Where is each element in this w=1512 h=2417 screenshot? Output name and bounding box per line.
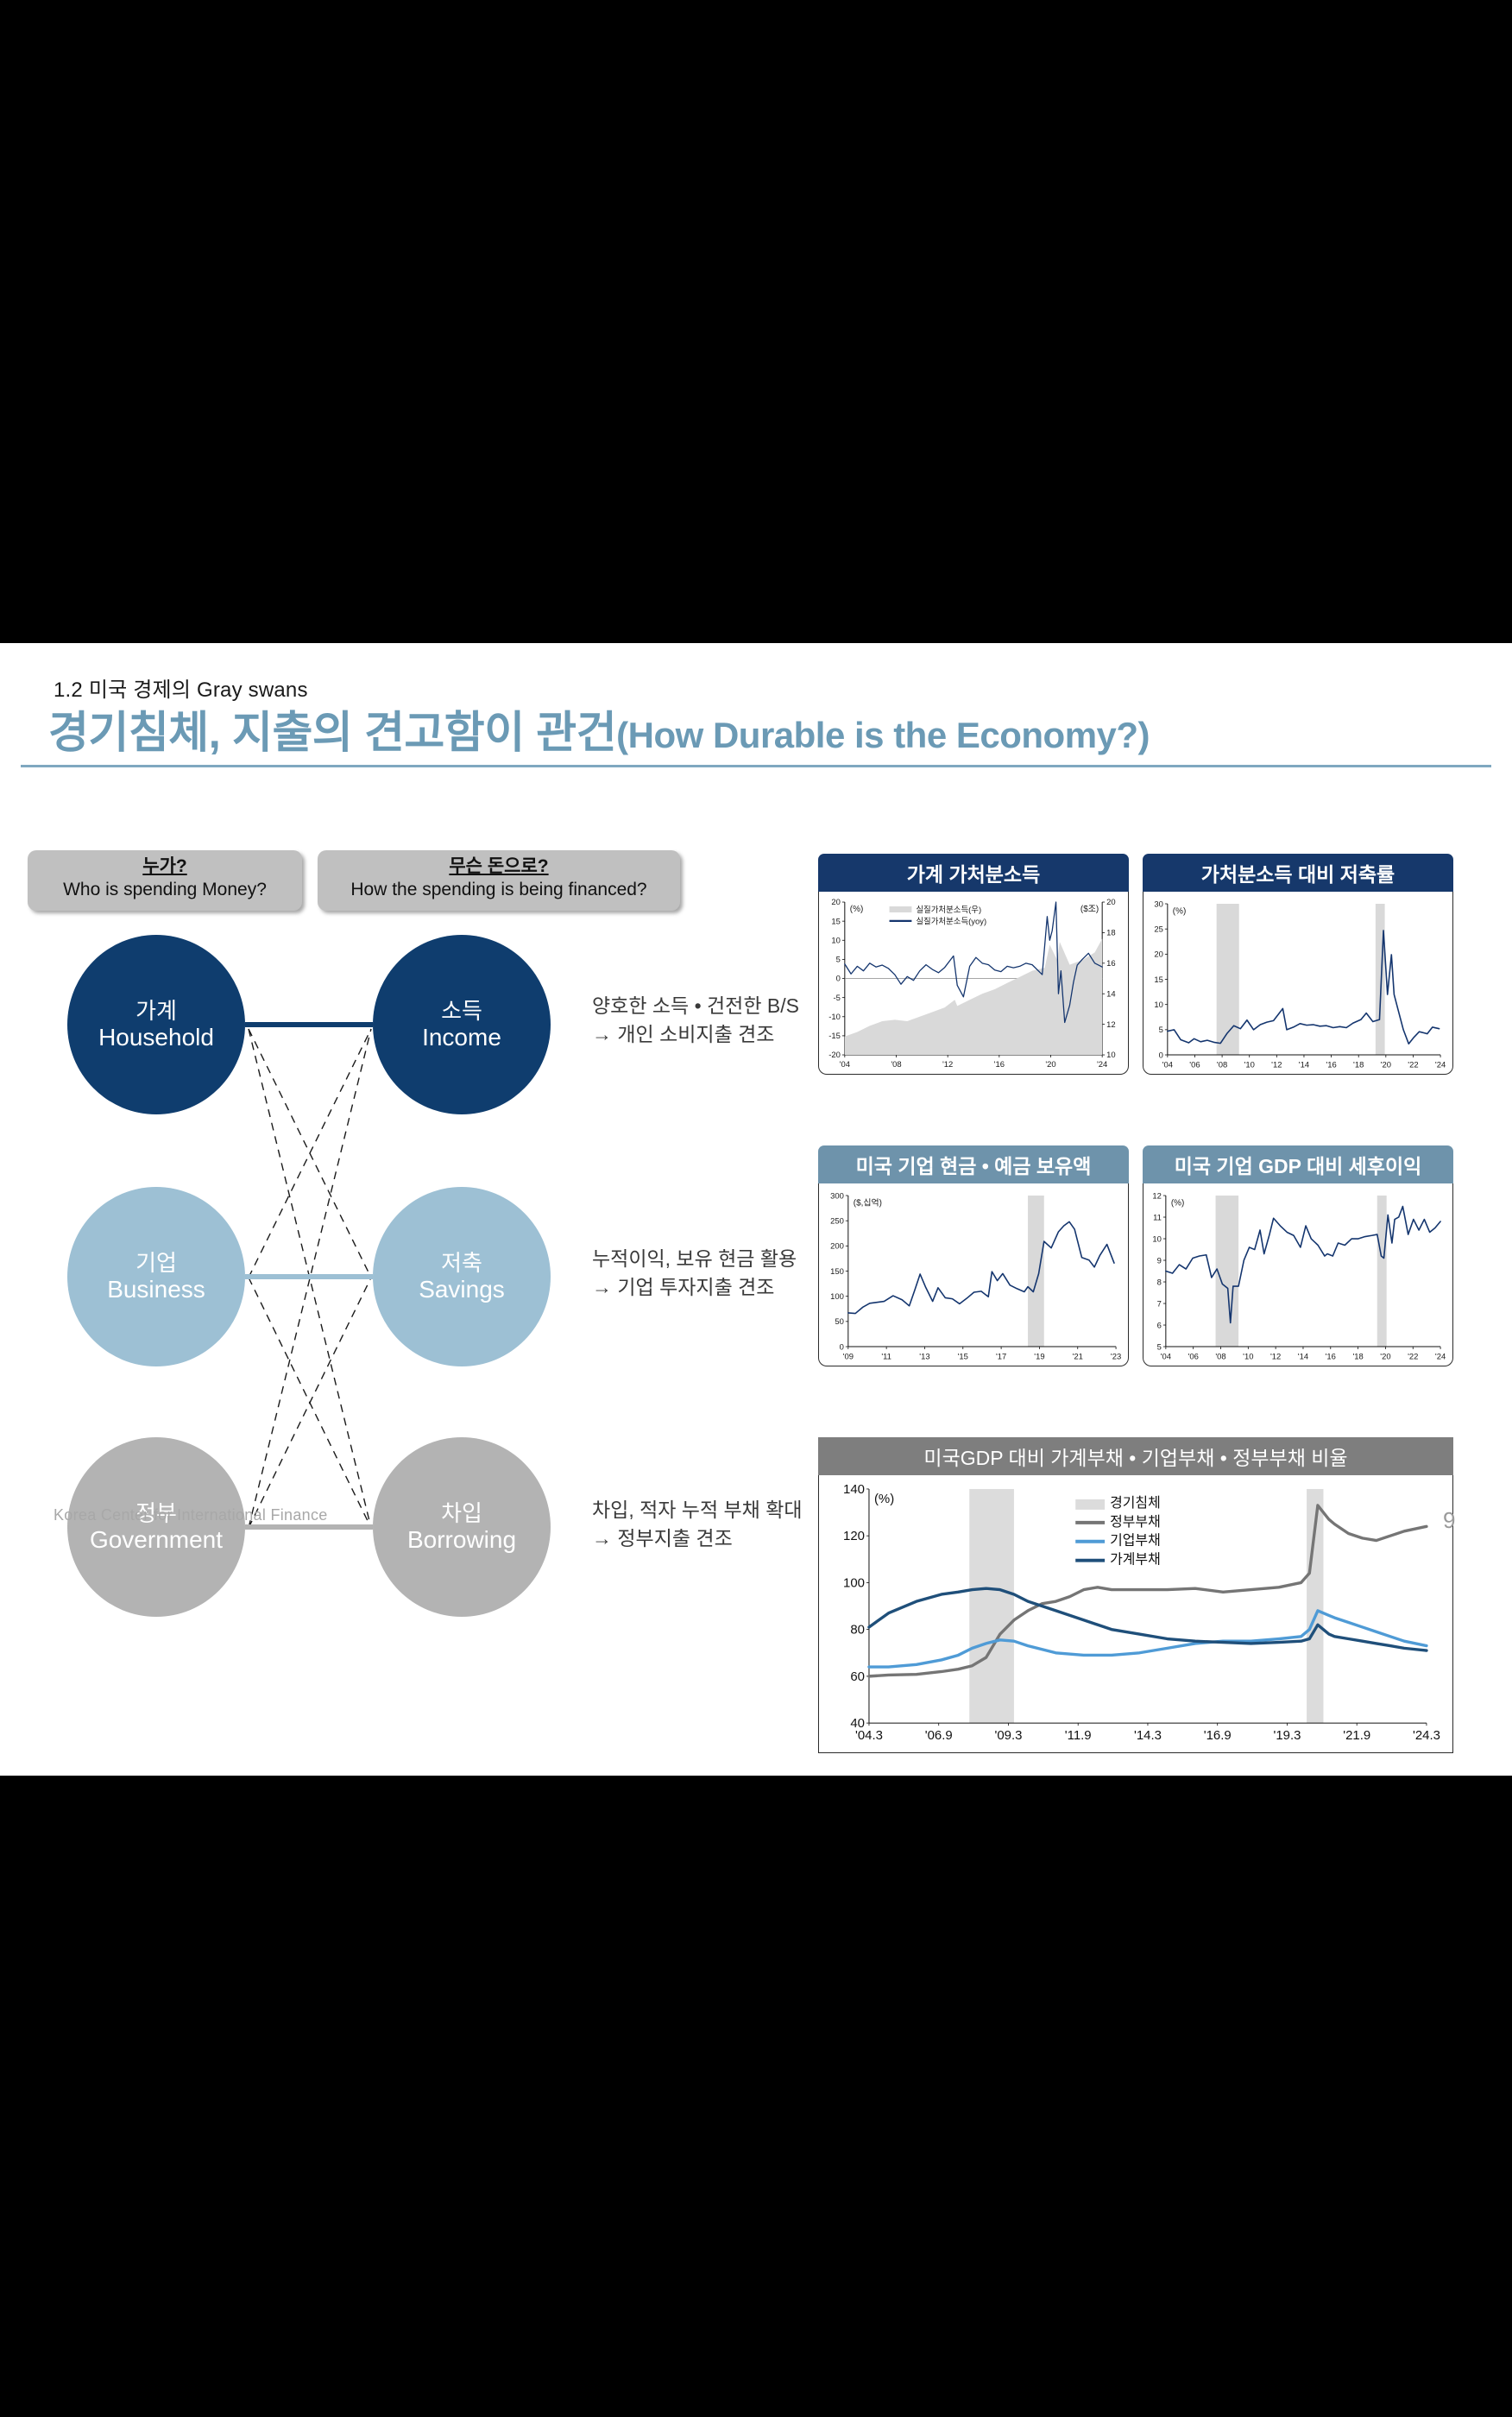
svg-text:'14.3: '14.3 [1134,1728,1162,1743]
diagram-node-household: 가계 Household [67,935,245,1114]
svg-text:80: 80 [850,1623,865,1638]
svg-text:'13: '13 [919,1352,929,1361]
svg-text:(%): (%) [1173,906,1186,916]
svg-text:10: 10 [1152,1234,1162,1244]
svg-text:'24: '24 [1435,1060,1446,1070]
chart-panel-debt-title: 미국GDP 대비 가계부채 • 기업부채 • 정부부채 비율 [818,1437,1453,1475]
note-household-line1: 양호한 소득 • 건전한 B/S [592,992,799,1020]
svg-text:'06: '06 [1188,1352,1199,1361]
header-divider [21,765,1491,767]
node-savings-en: Savings [419,1276,505,1303]
note-government-line1: 차입, 적자 누적 부채 확대 [592,1496,803,1524]
svg-text:정부부채: 정부부채 [1110,1514,1161,1530]
svg-text:100: 100 [843,1575,865,1590]
node-business-en: Business [107,1276,205,1303]
chart-cash: 300250200150100500'09'11'13'15'17'19'21'… [819,1183,1128,1366]
node-household-en: Household [98,1024,214,1051]
svg-text:10: 10 [1106,1051,1116,1060]
svg-text:14: 14 [1106,989,1116,999]
connector-household-income [245,1022,373,1027]
svg-text:'22: '22 [1408,1352,1418,1361]
chart-panel-profit: 미국 기업 GDP 대비 세후이익 12111098765'04'06'08'1… [1143,1145,1453,1366]
diagram-note-household: 양호한 소득 • 건전한 B/S → 개인 소비지출 견조 [592,992,799,1050]
connector-government-borrowing [245,1524,373,1530]
svg-text:5: 5 [1157,1342,1162,1352]
svg-text:9: 9 [1157,1256,1162,1265]
chart-panel-savings: 가처분소득 대비 저축률 302520151050'04'06'08'10'12… [1143,854,1453,1075]
svg-text:140: 140 [843,1482,865,1497]
svg-text:'21.9: '21.9 [1343,1728,1370,1743]
svg-text:12: 12 [1106,1020,1116,1030]
svg-text:'23: '23 [1111,1352,1121,1361]
callout-who-is-spending: 누가? Who is spending Money? [28,850,302,911]
slide-canvas: 1.2 미국 경제의 Gray swans 경기침체, 지출의 견고함이 관건(… [0,643,1512,1776]
note-business-line1: 누적이익, 보유 현금 활용 [592,1245,797,1273]
svg-text:'16.9: '16.9 [1204,1728,1232,1743]
node-income-ko: 소득 [441,999,482,1024]
svg-text:경기침체: 경기침체 [1110,1495,1161,1511]
svg-text:300: 300 [830,1191,844,1201]
svg-text:-10: -10 [828,1013,841,1022]
node-savings-ko: 저축 [441,1251,482,1276]
chart-savings: 302520151050'04'06'08'10'12'14'16'18'20'… [1143,892,1452,1074]
svg-text:'04: '04 [840,1060,850,1070]
node-borrowing-ko: 차입 [441,1501,482,1526]
svg-text:실질가처분소득(우): 실질가처분소득(우) [916,905,981,915]
callout-how-question: 무슨 돈으로? [318,855,680,878]
svg-text:60: 60 [850,1669,865,1684]
svg-text:'24: '24 [1435,1352,1446,1361]
svg-text:11: 11 [1153,1213,1162,1222]
svg-text:12: 12 [1152,1191,1162,1201]
svg-text:'14: '14 [1298,1352,1308,1361]
svg-text:'19: '19 [1034,1352,1044,1361]
svg-text:'08: '08 [1215,1352,1225,1361]
svg-text:'19.3: '19.3 [1273,1728,1301,1743]
chart-panel-cash-title: 미국 기업 현금 • 예금 보유액 [818,1145,1129,1183]
svg-text:'12: '12 [1271,1060,1282,1070]
svg-text:'20: '20 [1045,1060,1055,1070]
diagram-note-government: 차입, 적자 누적 부채 확대 → 정부지출 견조 [592,1496,803,1554]
svg-text:'22: '22 [1408,1060,1418,1070]
svg-text:120: 120 [843,1529,865,1543]
svg-text:'04: '04 [1161,1352,1171,1361]
svg-text:6: 6 [1157,1321,1162,1330]
chart-panel-income-title: 가계 가처분소득 [818,854,1129,892]
svg-text:10: 10 [1154,1000,1163,1010]
svg-text:'08: '08 [1217,1060,1227,1070]
svg-text:'06.9: '06.9 [925,1728,953,1743]
svg-text:-15: -15 [828,1032,841,1041]
chart-panel-savings-title: 가처분소득 대비 저축률 [1143,854,1453,892]
svg-text:'12: '12 [942,1060,953,1070]
svg-text:8: 8 [1157,1278,1162,1287]
svg-text:25: 25 [1154,925,1163,934]
chart-panel-debt-body: 140120100806040'04.3'06.9'09.3'11.9'14.3… [818,1475,1453,1753]
svg-text:0: 0 [836,975,841,984]
node-government-en: Government [90,1526,223,1553]
page-title: 경기침체, 지출의 견고함이 관건(How Durable is the Eco… [48,697,1150,760]
svg-text:'21: '21 [1073,1352,1083,1361]
chart-panel-savings-body: 302520151050'04'06'08'10'12'14'16'18'20'… [1143,892,1453,1075]
chart-income: 20151050-5-10-15-20201816141210'04'08'12… [819,892,1128,1074]
svg-text:'16: '16 [994,1060,1005,1070]
svg-text:20: 20 [831,898,841,907]
diagram-node-government: 정부 Government [67,1437,245,1617]
svg-text:'08: '08 [891,1060,901,1070]
svg-text:'24: '24 [1097,1060,1107,1070]
svg-text:-20: -20 [828,1051,841,1060]
svg-text:5: 5 [1159,1025,1163,1035]
svg-text:'09.3: '09.3 [994,1728,1022,1743]
callout-who-english: Who is spending Money? [28,878,302,901]
svg-text:'14: '14 [1299,1060,1309,1070]
chart-profit: 12111098765'04'06'08'10'12'14'16'18'20'2… [1143,1183,1452,1366]
svg-text:'10: '10 [1244,1060,1255,1070]
diagram-node-income: 소득 Income [373,935,551,1114]
chart-panel-profit-body: 12111098765'04'06'08'10'12'14'16'18'20'2… [1143,1183,1453,1366]
diagram-node-savings: 저축 Savings [373,1187,551,1366]
chart-debt: 140120100806040'04.3'06.9'09.3'11.9'14.3… [819,1475,1452,1752]
note-household-line2: → 개인 소비지출 견조 [592,1020,799,1049]
diagram-node-borrowing: 차입 Borrowing [373,1437,551,1617]
svg-text:'09: '09 [843,1352,854,1361]
svg-text:16: 16 [1106,959,1116,969]
chart-panel-profit-title: 미국 기업 GDP 대비 세후이익 [1143,1145,1453,1183]
svg-text:-5: -5 [833,994,840,1003]
svg-text:(%): (%) [850,905,863,914]
note-government-line2: → 정부지출 견조 [592,1524,803,1553]
chart-panel-cash-body: 300250200150100500'09'11'13'15'17'19'21'… [818,1183,1129,1366]
svg-text:'06: '06 [1189,1060,1200,1070]
svg-text:'04: '04 [1162,1060,1173,1070]
svg-text:'20: '20 [1380,1352,1390,1361]
callout-who-question: 누가? [28,855,302,878]
svg-text:7: 7 [1157,1299,1162,1309]
svg-text:50: 50 [835,1317,844,1327]
svg-text:(%): (%) [874,1492,894,1506]
node-income-en: Income [422,1024,501,1051]
svg-text:(%): (%) [1171,1198,1184,1208]
node-borrowing-en: Borrowing [407,1526,516,1553]
chart-panel-cash: 미국 기업 현금 • 예금 보유액 300250200150100500'09'… [818,1145,1129,1366]
page-title-en: (How Durable is the Economy?) [616,715,1150,755]
svg-text:0: 0 [840,1342,844,1352]
diagram-note-business: 누적이익, 보유 현금 활용 → 기업 투자지출 견조 [592,1245,797,1303]
chart-panel-debt: 미국GDP 대비 가계부채 • 기업부채 • 정부부채 비율 140120100… [818,1437,1453,1753]
svg-text:15: 15 [1154,975,1163,985]
footer-source: Korea Center for International Finance [54,1506,328,1524]
svg-text:가계부채: 가계부채 [1110,1552,1161,1568]
page-title-ko: 경기침체, 지출의 견고함이 관건 [48,708,616,757]
callout-how-english: How the spending is being financed? [318,878,680,901]
svg-text:'12: '12 [1270,1352,1281,1361]
svg-text:'11.9: '11.9 [1065,1728,1092,1743]
svg-text:5: 5 [836,956,841,965]
svg-text:20: 20 [1106,898,1116,907]
svg-text:0: 0 [1159,1051,1163,1060]
svg-text:'11: '11 [881,1352,891,1361]
svg-text:'10: '10 [1243,1352,1253,1361]
svg-text:18: 18 [1106,929,1116,938]
svg-text:'17: '17 [996,1352,1006,1361]
note-business-line2: → 기업 투자지출 견조 [592,1273,797,1302]
svg-text:기업부채: 기업부채 [1110,1533,1161,1549]
svg-text:'04.3: '04.3 [855,1728,883,1743]
svg-text:100: 100 [830,1292,844,1302]
svg-text:'16: '16 [1326,1060,1336,1070]
svg-text:실질가처분소득(yoy): 실질가처분소득(yoy) [916,916,986,926]
svg-text:'20: '20 [1381,1060,1391,1070]
svg-text:($,십억): ($,십억) [854,1197,882,1208]
callout-how-financed: 무슨 돈으로? How the spending is being financ… [318,850,680,911]
svg-text:'16: '16 [1326,1352,1336,1361]
svg-text:200: 200 [830,1242,844,1252]
svg-text:250: 250 [830,1216,844,1226]
connector-business-savings [245,1274,373,1279]
svg-text:'18: '18 [1353,1060,1364,1070]
node-household-ko: 가계 [135,999,177,1024]
svg-text:10: 10 [831,936,841,945]
svg-text:15: 15 [831,917,841,926]
svg-text:150: 150 [830,1267,844,1277]
svg-text:'15: '15 [958,1352,968,1361]
chart-panel-income-body: 20151050-5-10-15-20201816141210'04'08'12… [818,892,1129,1075]
svg-text:20: 20 [1154,950,1163,960]
svg-text:30: 30 [1154,899,1163,909]
chart-panel-income: 가계 가처분소득 20151050-5-10-15-20201816141210… [818,854,1129,1075]
svg-text:'18: '18 [1352,1352,1363,1361]
diagram-node-business: 기업 Business [67,1187,245,1366]
node-business-ko: 기업 [135,1251,177,1276]
svg-text:($조): ($조) [1080,905,1099,914]
page-number: 9 [1443,1507,1455,1534]
svg-text:'24.3: '24.3 [1413,1728,1440,1743]
